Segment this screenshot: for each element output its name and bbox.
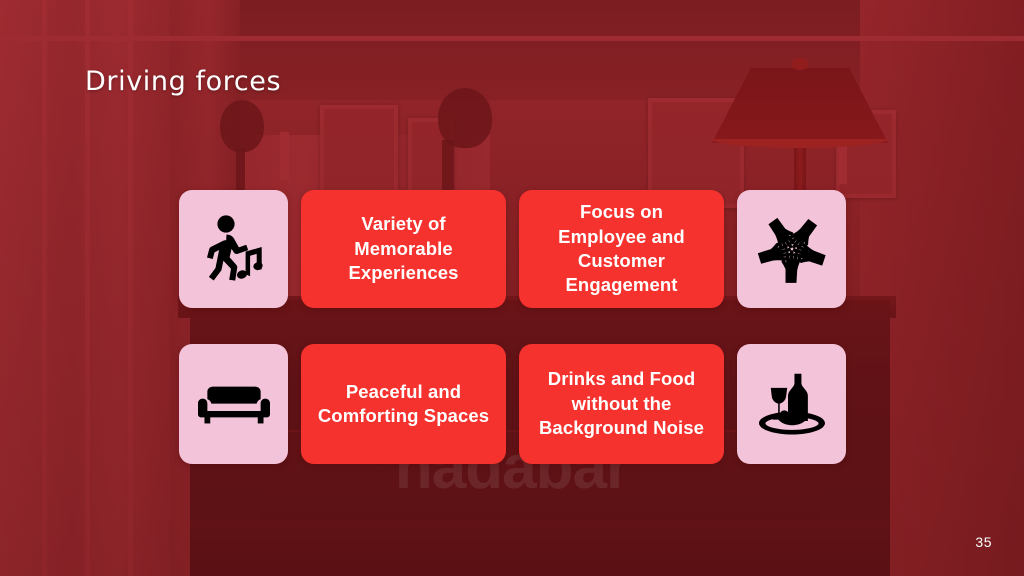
five-hands-circle-icon (755, 213, 829, 285)
slide-canvas: nadabar Driving forces Variety of Memora (0, 0, 1024, 576)
card-label: Drinks and Food without the Background N… (535, 367, 708, 440)
text-card-peaceful-and-comforting-spaces[interactable]: Peaceful and Comforting Spaces (301, 344, 506, 464)
page-number: 35 (975, 534, 992, 550)
card-label: Peaceful and Comforting Spaces (317, 380, 490, 429)
icon-card-drinks-and-food[interactable] (737, 344, 846, 464)
text-card-variety-of-memorable-experiences[interactable]: Variety of Memorable Experiences (301, 190, 506, 308)
page-title: Driving forces (85, 66, 281, 97)
driving-forces-grid: Variety of Memorable Experiences Focus o… (179, 190, 846, 464)
icon-card-sofa[interactable] (179, 344, 288, 464)
icon-card-five-hands-circle[interactable] (737, 190, 846, 308)
card-label: Variety of Memorable Experiences (317, 212, 490, 285)
dancing-person-music-icon (201, 214, 267, 284)
sofa-icon (198, 383, 270, 425)
text-card-focus-on-employee-and-customer-engagement[interactable]: Focus on Employee and Customer Engagemen… (519, 190, 724, 308)
card-label: Focus on Employee and Customer Engagemen… (535, 200, 708, 298)
driving-forces-row: Variety of Memorable Experiences Focus o… (179, 190, 846, 308)
icon-card-dancing-person[interactable] (179, 190, 288, 308)
text-card-drinks-and-food-without-the-background-noise[interactable]: Drinks and Food without the Background N… (519, 344, 724, 464)
driving-forces-row: Peaceful and Comforting Spaces Drinks an… (179, 344, 846, 464)
wine-bottle-glass-food-icon (755, 371, 829, 437)
